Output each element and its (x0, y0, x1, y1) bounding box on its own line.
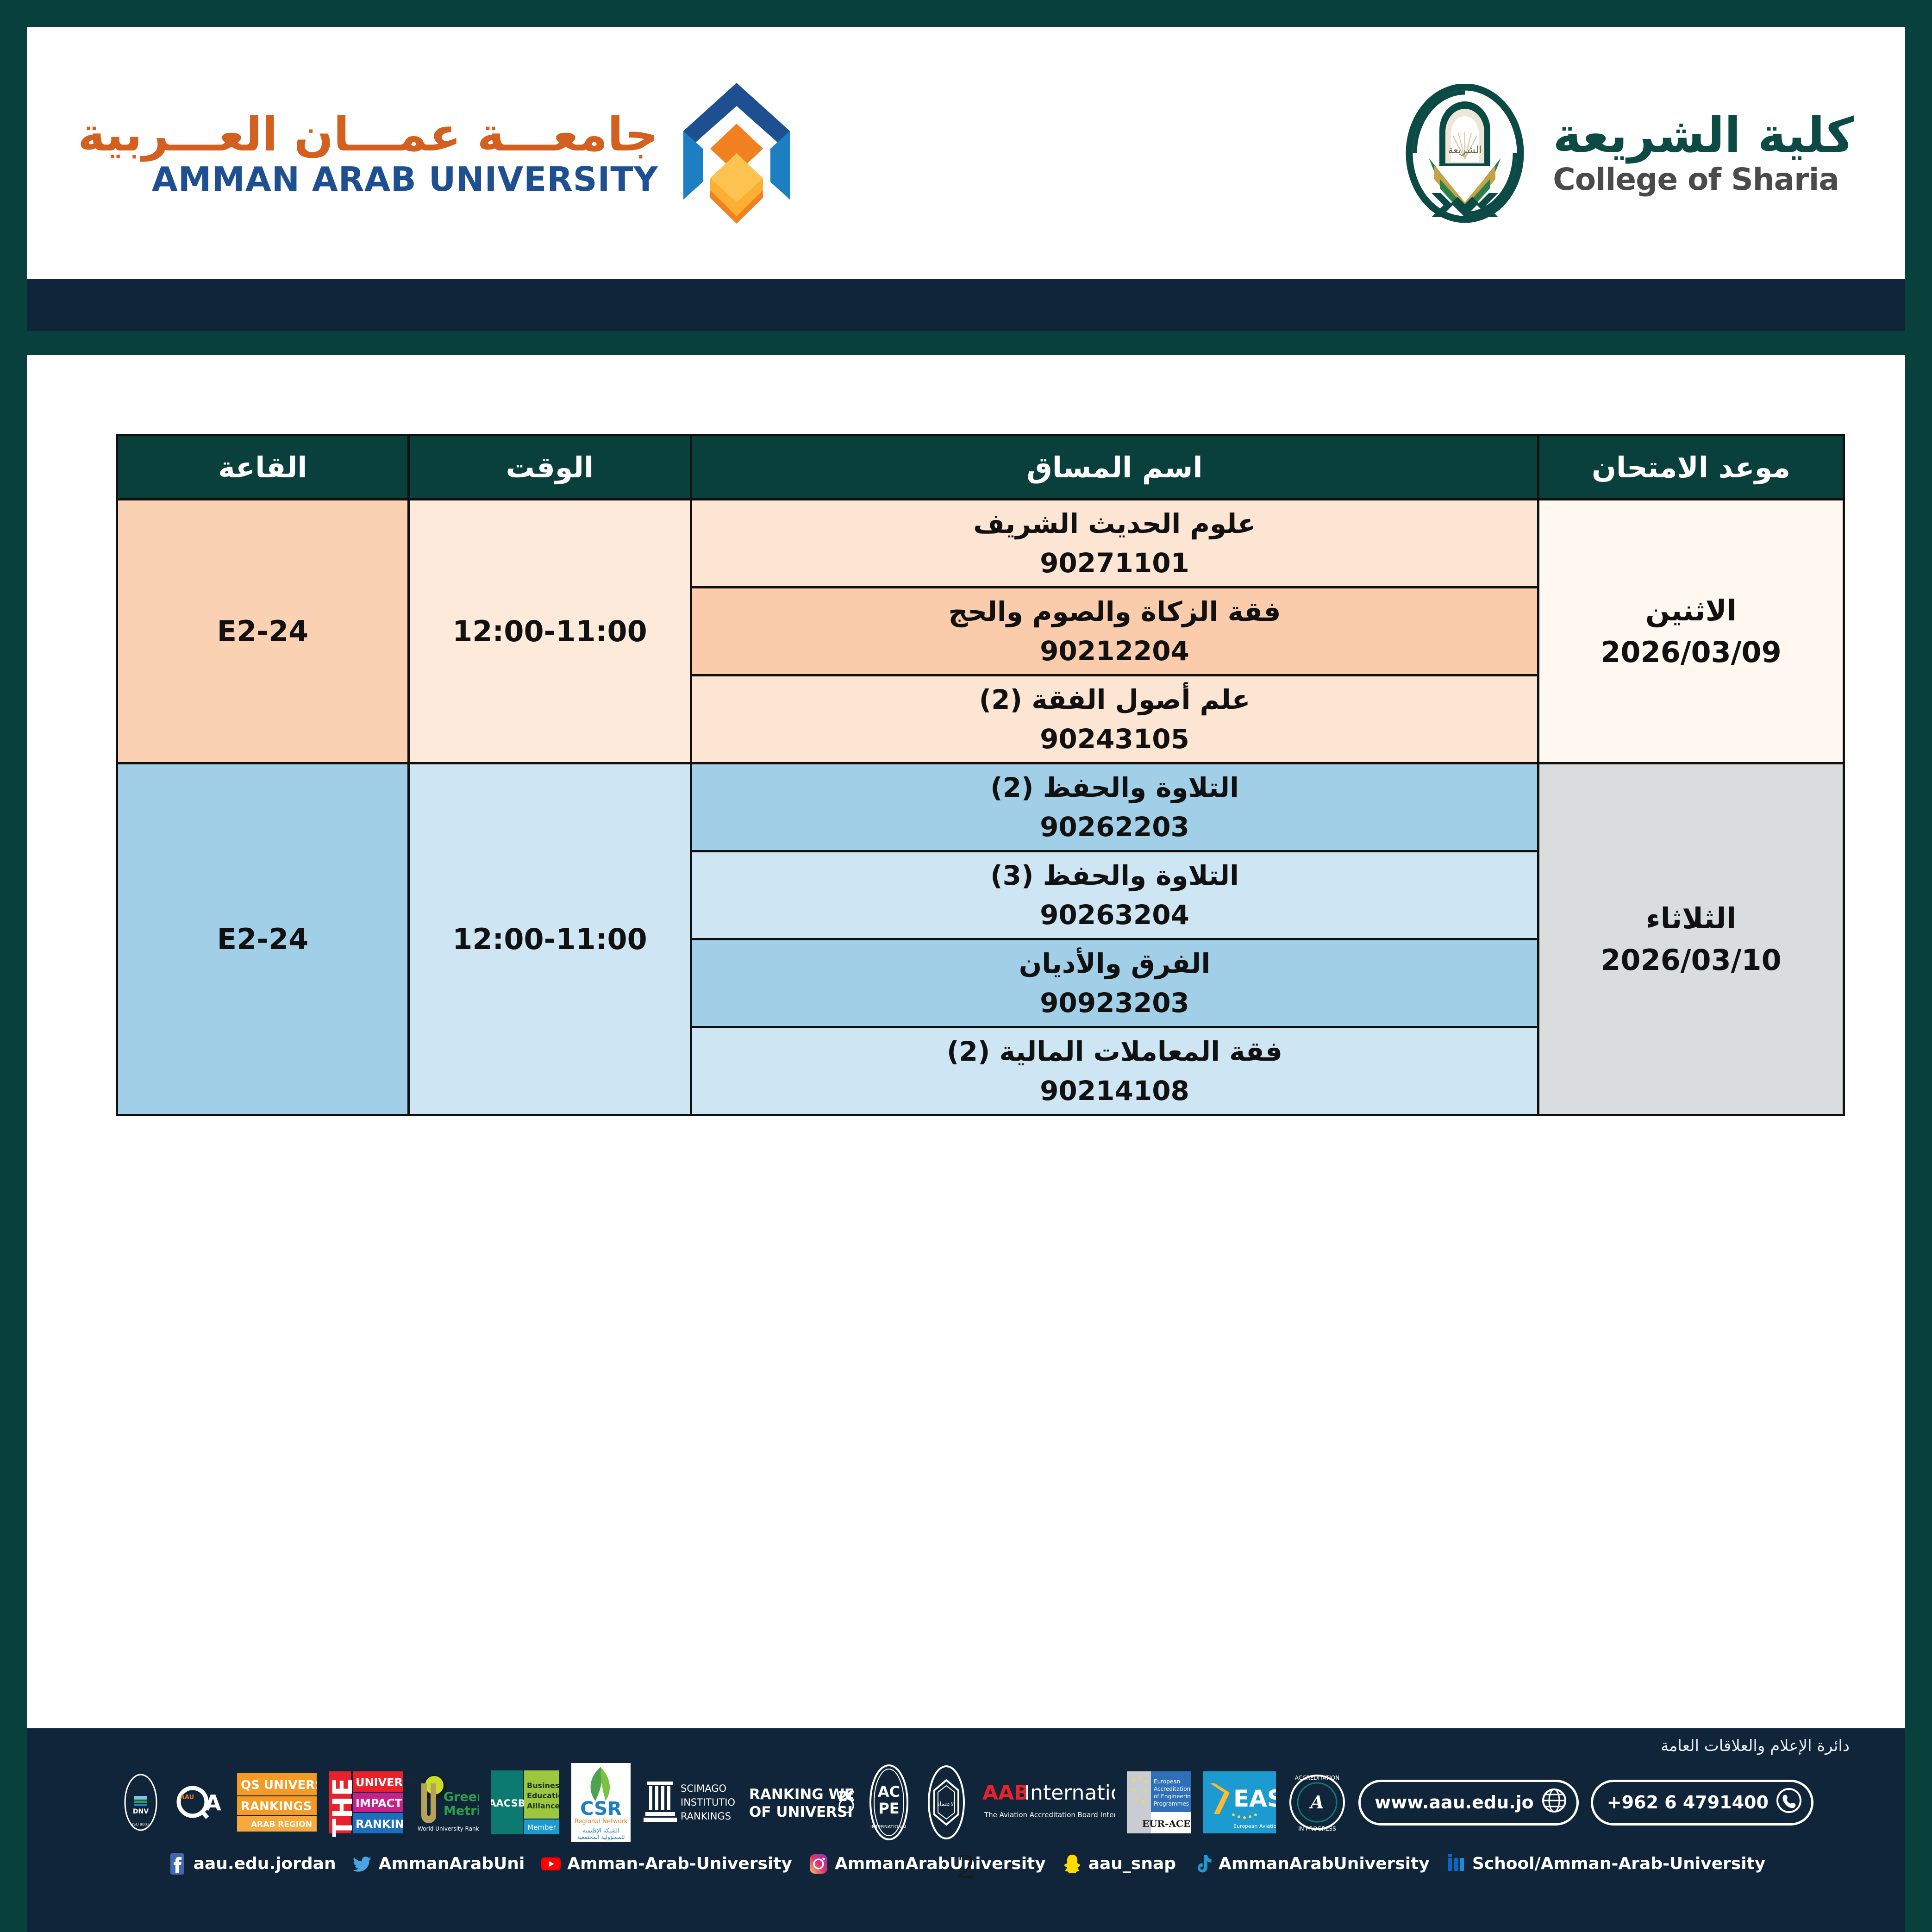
svg-text:RANKINGS: RANKINGS (241, 1800, 312, 1813)
svg-text:ARAB REGION: ARAB REGION (251, 1820, 312, 1829)
exam-time-monday: 12:00-11:00 (409, 500, 691, 763)
scimago-institutions-rankings-icon: SCIMAGOINSTITUTIONSRANKINGS (643, 1772, 735, 1832)
page-root: الشريعة كلية الشريعة College of Sharia (0, 0, 1932, 1932)
svg-text:AAU: AAU (180, 1794, 194, 1801)
page-header: الشريعة كلية الشريعة College of Sharia (27, 27, 1905, 279)
sharia-title-english: College of Sharia (1553, 163, 1839, 195)
page-sheet: الشريعة كلية الشريعة College of Sharia (27, 27, 1905, 1932)
globe-icon (1540, 1787, 1568, 1819)
exam-schedule-table: موعد الامتحان اسم المساق الوقت القاعة ال… (116, 434, 1845, 1116)
sharia-title-arabic: كلية الشريعة (1553, 110, 1854, 161)
svg-text:World University Ranking: World University Ranking (418, 1826, 479, 1832)
svg-text:RANKINGS: RANKINGS (356, 1818, 403, 1831)
table-header-row: موعد الامتحان اسم المساق الوقت القاعة (117, 435, 1844, 500)
course-name: التلاوة والحفظ (2) (692, 768, 1537, 807)
svg-text:Alliance: Alliance (527, 1801, 559, 1810)
eur-ace-icon: EuropeanAccreditationof EngineeringProgr… (1127, 1768, 1191, 1837)
svg-text:International: International (1024, 1781, 1115, 1805)
svg-text:Member: Member (527, 1823, 556, 1832)
svg-text:EUR-ACE®: EUR-ACE® (1142, 1818, 1191, 1829)
svg-text:European Aviation Safety Agenc: European Aviation Safety Agency (1233, 1823, 1276, 1829)
course-code: 90262203 (692, 807, 1537, 846)
course-code: 90271101 (692, 544, 1537, 582)
svg-text:Regional Network: Regional Network (575, 1818, 628, 1825)
islamic-accreditation-seal-icon: الاعتماد (924, 1763, 969, 1841)
svg-text:CSR: CSR (580, 1798, 622, 1819)
svg-text:INTERNATIONAL: INTERNATIONAL (870, 1825, 908, 1830)
day-name: الثلاثاء (1539, 898, 1843, 939)
svg-text:AAB: AAB (982, 1781, 1030, 1805)
phone-pill[interactable]: +962 6 4791400 (1591, 1780, 1813, 1826)
phone-icon (1775, 1787, 1803, 1819)
svg-text:Metric: Metric (444, 1804, 479, 1818)
svg-text:The Aviation Accreditation Boa: The Aviation Accreditation Board Interna… (984, 1811, 1115, 1819)
navy-band (27, 279, 1905, 331)
course-code: 90263204 (692, 895, 1537, 934)
svg-text:Education: Education (527, 1791, 559, 1800)
course-cell: علم أصول الفقة (2) 90243105 (691, 675, 1538, 763)
the-university-impact-rankings-icon: THEUNIVERSITYIMPACTRANKINGS (329, 1768, 403, 1837)
qs-university-rankings-icon: QS UNIVERSITYRANKINGSARAB REGION (237, 1768, 317, 1837)
course-name: علوم الحديث الشريف (692, 504, 1537, 543)
svg-text:Business: Business (527, 1781, 559, 1790)
day-date: 2026/03/10 (1539, 939, 1843, 981)
qs-aau-qa-icon: AAAU (175, 1777, 225, 1828)
svg-text:Programmes: Programmes (1154, 1801, 1189, 1807)
day-block-monday: الاثنين 2026/03/09 علوم الحديث الشريف 90… (117, 500, 1844, 763)
exam-date-monday: الاثنين 2026/03/09 (1538, 500, 1844, 763)
exam-date-tuesday: الثلاثاء 2026/03/10 (1538, 763, 1844, 1115)
svg-text:DNV: DNV (133, 1808, 149, 1815)
acpe-international-icon: ACPEINTERNATIONAL (866, 1763, 912, 1841)
course-cell: التلاوة والحفظ (2) 90262203 (691, 763, 1538, 851)
svg-text:الاعتماد: الاعتماد (937, 1801, 956, 1808)
exam-time-tuesday: 12:00-11:00 (409, 763, 691, 1115)
sharia-college-seal-icon: الشريعة (1395, 84, 1534, 223)
svg-text:الشبكة الإقليمية: الشبكة الإقليمية (583, 1827, 619, 1834)
course-name: الفرق والأديان (692, 944, 1537, 983)
course-name: علم أصول الفقة (2) (692, 680, 1537, 719)
aau-title-english: AMMAN ARAB UNIVERSITY (152, 162, 658, 197)
day-name: الاثنين (1539, 590, 1843, 631)
ui-greenmetric-icon: GreenMetricWorld University Ranking (415, 1768, 479, 1837)
svg-text:INSTITUTIONS: INSTITUTIONS (681, 1797, 735, 1808)
aau-title-arabic: جامعـــة عمـــان العـــربية (78, 109, 658, 160)
svg-text:IN PROGRESS: IN PROGRESS (1298, 1826, 1336, 1832)
accreditation-in-progress-icon: AACCREDITATIONIN PROGRESS (1288, 1768, 1346, 1837)
table-row: الثلاثاء 2026/03/10 التلاوة والحفظ (2) 9… (117, 763, 1844, 851)
course-code: 90214108 (692, 1071, 1537, 1110)
svg-text:Green: Green (444, 1790, 479, 1804)
svg-text:RANKINGS: RANKINGS (681, 1811, 731, 1822)
course-cell: الفرق والأديان 90923203 (691, 939, 1538, 1027)
svg-text:A: A (205, 1790, 221, 1815)
svg-text:UNIVERSITY: UNIVERSITY (356, 1776, 403, 1789)
svg-text:AACSB: AACSB (491, 1798, 525, 1809)
course-cell: التلاوة والحفظ (3) 90263204 (691, 851, 1538, 939)
day-date: 2026/03/09 (1539, 631, 1843, 673)
aau-titles: جامعـــة عمـــان العـــربية AMMAN ARAB U… (78, 109, 658, 197)
media-department-label: دائرة الإعلام والعلاقات العامة (69, 1737, 1850, 1756)
csr-regional-network-icon: CSRRegional Networkالشبكة الإقليميةللمسؤ… (571, 1763, 631, 1842)
dnv-iso-9001-icon: DNVISO 9001 (119, 1773, 163, 1832)
svg-text:ISO 9001: ISO 9001 (132, 1822, 150, 1826)
aacsb-business-education-alliance-icon: AACSBBusinessEducationAllianceMember (491, 1768, 559, 1837)
column-header-course: اسم المساق (691, 435, 1538, 500)
course-name: التلاوة والحفظ (3) (692, 856, 1537, 895)
svg-text:SCIMAGO: SCIMAGO (681, 1783, 726, 1794)
svg-text:AC: AC (878, 1783, 900, 1801)
phone-number: +962 6 4791400 (1607, 1792, 1769, 1813)
page-footer: دائرة الإعلام والعلاقات العامة DNVISO 90… (27, 1728, 1905, 1932)
sharia-college-titles: كلية الشريعة College of Sharia (1553, 110, 1854, 195)
header-divider-bands (27, 279, 1905, 355)
page-number: 2 (27, 1847, 1905, 1887)
svg-text:QS UNIVERSITY: QS UNIVERSITY (241, 1778, 317, 1792)
course-code: 90212204 (692, 631, 1537, 670)
ranking-web-of-universities-icon: RANKING WEBOF UNIVERSITIES20 (747, 1777, 854, 1828)
amman-arab-university-brand: جامعـــة عمـــان العـــربية AMMAN ARAB U… (78, 79, 794, 227)
green-band (27, 331, 1905, 355)
page-body: موعد الامتحان اسم المساق الوقت القاعة ال… (27, 355, 1905, 1728)
accreditation-logos-row: DNVISO 9001 AAAU QS UNIVERSITYRANKINGSAR… (69, 1762, 1863, 1843)
exam-hall-monday: E2-24 (117, 500, 409, 763)
easa-icon: EASAEuropean Aviation Safety Agency (1203, 1768, 1276, 1837)
svg-text:EASA: EASA (1233, 1785, 1276, 1812)
svg-text:Accreditation: Accreditation (1154, 1786, 1190, 1792)
svg-text:A: A (1309, 1792, 1324, 1813)
course-name: فقة المعاملات المالية (2) (692, 1032, 1537, 1071)
table-row: الاثنين 2026/03/09 علوم الحديث الشريف 90… (117, 500, 1844, 588)
sharia-college-brand: الشريعة كلية الشريعة College of Sharia (1395, 84, 1854, 223)
course-cell: فقة الزكاة والصوم والحج 90212204 (691, 588, 1538, 675)
svg-text:of Engineering: of Engineering (1154, 1793, 1191, 1800)
column-header-date: موعد الامتحان (1538, 435, 1844, 500)
course-cell: علوم الحديث الشريف 90271101 (691, 500, 1538, 588)
exam-hall-tuesday: E2-24 (117, 763, 409, 1115)
svg-text:IMPACT: IMPACT (356, 1797, 402, 1810)
website-pill[interactable]: www.aau.edu.jo (1358, 1780, 1579, 1826)
aau-diamond-mark-icon (679, 79, 794, 227)
svg-text:الشريعة: الشريعة (1448, 144, 1482, 156)
svg-text:ACCREDITATION: ACCREDITATION (1295, 1775, 1339, 1781)
day-block-tuesday: الثلاثاء 2026/03/10 التلاوة والحفظ (2) 9… (117, 763, 1844, 1115)
svg-text:OF UNIVERSITIES: OF UNIVERSITIES (749, 1804, 854, 1820)
aab-international-icon: AABInternationalThe Aviation Accreditati… (981, 1775, 1115, 1830)
column-header-hall: القاعة (117, 435, 409, 500)
course-code: 90923203 (692, 983, 1537, 1022)
svg-text:PE: PE (878, 1800, 899, 1817)
website-url: www.aau.edu.jo (1375, 1792, 1534, 1813)
svg-text:للمسؤولية المجتمعية: للمسؤولية المجتمعية (577, 1834, 625, 1841)
course-cell: فقة المعاملات المالية (2) 90214108 (691, 1027, 1538, 1115)
course-code: 90243105 (692, 719, 1537, 758)
svg-text:European: European (1154, 1778, 1180, 1785)
column-header-time: الوقت (409, 435, 691, 500)
course-name: فقة الزكاة والصوم والحج (692, 592, 1537, 631)
